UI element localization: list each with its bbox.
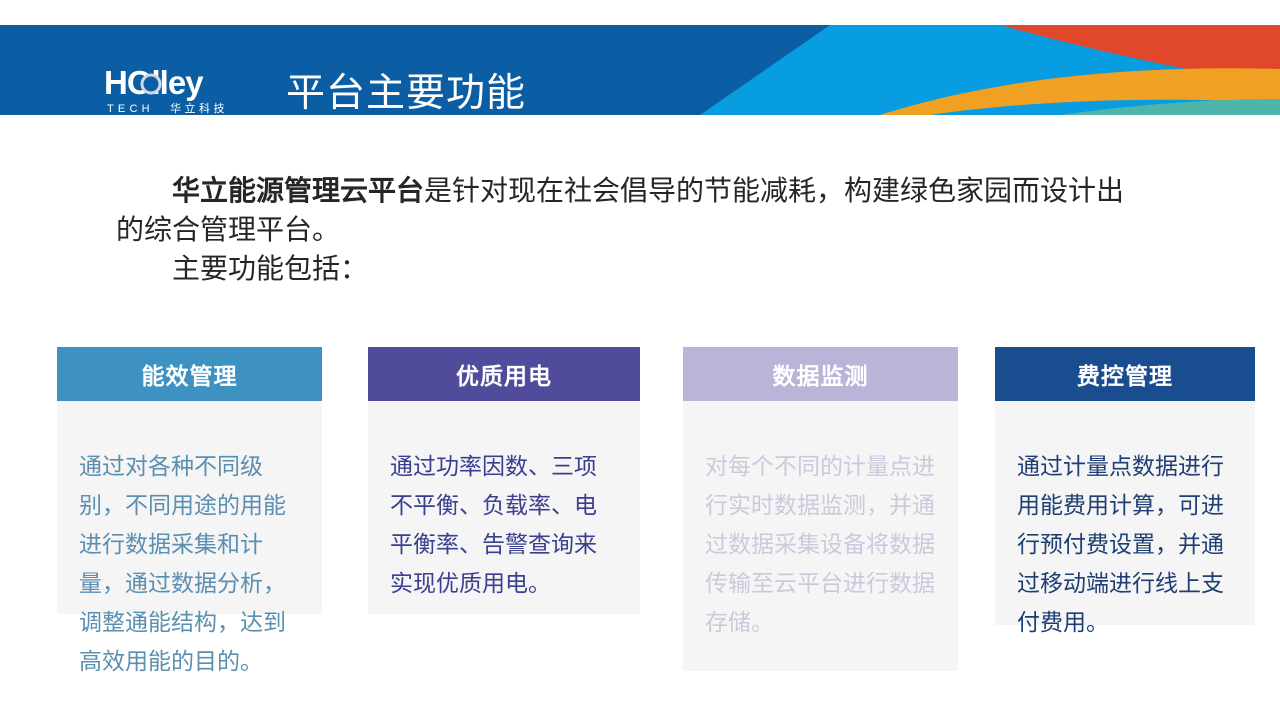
logo-subtitle-cn: 华立科技 bbox=[170, 101, 228, 115]
page-title: 平台主要功能 bbox=[286, 69, 526, 115]
intro-paragraph-2: 主要功能包括： bbox=[116, 250, 1126, 289]
logo-subtitle-en: TECH bbox=[107, 103, 154, 115]
header-banner: HOlley TECH 华立科技 平台主要功能 bbox=[0, 25, 1280, 115]
card-header-data-monitoring: 数据监测 bbox=[683, 347, 958, 401]
holley-tech-logo: HOlley TECH 华立科技 bbox=[104, 64, 264, 115]
card-header-quality-power: 优质用电 bbox=[368, 347, 640, 401]
feature-card-data-monitoring[interactable]: 数据监测 对每个不同的计量点进行实时数据监测，并通过数据采集设备将数据传输至云平… bbox=[683, 347, 958, 671]
card-body-quality-power: 通过功率因数、三项不平衡、负载率、电平衡率、告警查询来实现优质用电。 bbox=[368, 401, 640, 614]
card-header-energy-efficiency: 能效管理 bbox=[57, 347, 322, 401]
intro-paragraph-1: 华立能源管理云平台是针对现在社会倡导的节能减耗，构建绿色家园而设计出的综合管理平… bbox=[116, 172, 1126, 250]
intro-lead-phrase: 华立能源管理云平台 bbox=[172, 176, 424, 207]
card-header-fee-control: 费控管理 bbox=[995, 347, 1255, 401]
intro-text-block: 华立能源管理云平台是针对现在社会倡导的节能减耗，构建绿色家园而设计出的综合管理平… bbox=[116, 172, 1126, 289]
card-body-data-monitoring: 对每个不同的计量点进行实时数据监测，并通过数据采集设备将数据传输至云平台进行数据… bbox=[683, 401, 958, 671]
card-body-energy-efficiency: 通过对各种不同级别，不同用途的用能进行数据采集和计量，通过数据分析，调整通能结构… bbox=[57, 401, 322, 614]
slide-root: HOlley TECH 华立科技 平台主要功能 华立能源管理云平台是针对现在社会… bbox=[0, 0, 1280, 720]
feature-card-quality-power[interactable]: 优质用电 通过功率因数、三项不平衡、负载率、电平衡率、告警查询来实现优质用电。 bbox=[368, 347, 640, 614]
feature-card-energy-efficiency[interactable]: 能效管理 通过对各种不同级别，不同用途的用能进行数据采集和计量，通过数据分析，调… bbox=[57, 347, 322, 614]
feature-card-row: 能效管理 通过对各种不同级别，不同用途的用能进行数据采集和计量，通过数据分析，调… bbox=[0, 347, 1280, 677]
feature-card-fee-control[interactable]: 费控管理 通过计量点数据进行用能费用计算，可进行预付费设置，并通过移动端进行线上… bbox=[995, 347, 1255, 625]
card-body-fee-control: 通过计量点数据进行用能费用计算，可进行预付费设置，并通过移动端进行线上支付费用。 bbox=[995, 401, 1255, 625]
